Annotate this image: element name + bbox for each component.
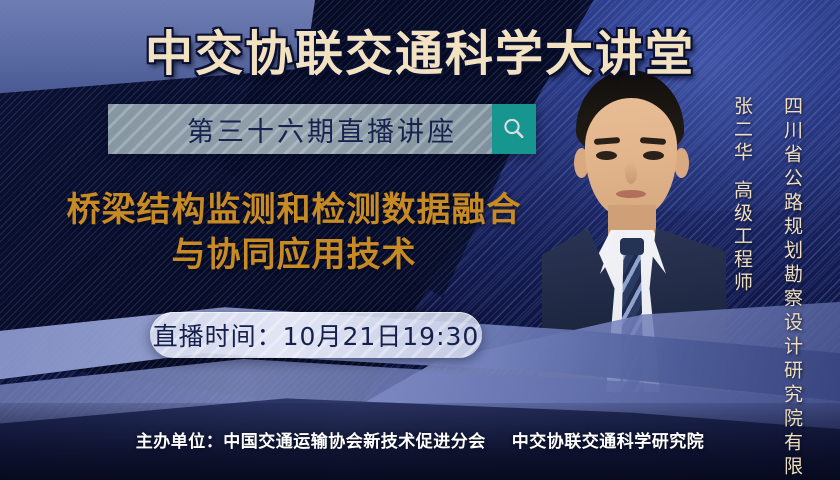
portrait-eye-left xyxy=(596,151,617,160)
organizer-primary: 中国交通运输协会新技术促进分会 xyxy=(223,432,486,452)
search-icon-box[interactable] xyxy=(492,104,536,154)
speaker-company: 四川省公路规划勘察设计研究院有限公司 xyxy=(779,96,806,480)
webinar-poster: 中交协联交通科学大讲堂 第三十六期直播讲座 桥梁结构监测和检测数据融合 与协同应… xyxy=(0,0,840,480)
lecture-topic-line2: 与协同应用技术 xyxy=(24,233,564,278)
portrait-eye-right xyxy=(643,151,664,160)
portrait-mouth xyxy=(616,190,646,198)
broadcast-time-badge: 直播时间：10月21日19:30 xyxy=(150,312,482,358)
broadcast-time-text: 直播时间：10月21日19:30 xyxy=(153,317,480,353)
organizer-secondary: 中交协联交通科学研究院 xyxy=(512,432,705,452)
portrait-jacket-right xyxy=(648,228,726,392)
page-title: 中交协联交通科学大讲堂 xyxy=(0,14,840,84)
speaker-name: 张二华 xyxy=(729,96,756,165)
organizer-prefix: 主办单位： xyxy=(136,432,224,452)
organizer-footer: 主办单位：中国交通运输协会新技术促进分会中交协联交通科学研究院 xyxy=(0,427,840,452)
portrait-nose xyxy=(625,162,637,184)
session-banner: 第三十六期直播讲座 xyxy=(108,104,536,154)
lecture-topic: 桥梁结构监测和检测数据融合 与协同应用技术 xyxy=(24,188,564,278)
search-icon xyxy=(501,116,527,142)
speaker-portrait xyxy=(540,62,726,392)
portrait-necktie-knot xyxy=(620,238,644,255)
session-banner-label: 第三十六期直播讲座 xyxy=(108,104,492,154)
speaker-role: 高级工程师 xyxy=(729,180,756,295)
lecture-topic-line1: 桥梁结构监测和检测数据融合 xyxy=(67,190,522,230)
